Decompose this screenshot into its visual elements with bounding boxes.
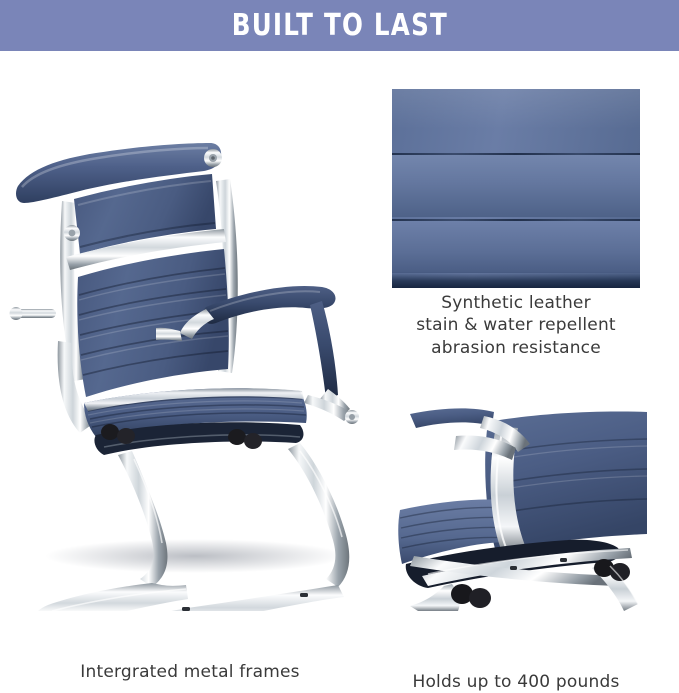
seat-frame-photo — [392, 406, 647, 611]
leather-bottom-shadow — [392, 272, 640, 288]
seat-bolt-right — [345, 410, 359, 424]
caption-synthetic-leather: Synthetic leather stain & water repellen… — [392, 292, 640, 359]
leather-rib-mid — [392, 155, 640, 217]
caption-line-3: abrasion resistance — [392, 337, 640, 359]
caption-weight-capacity: Holds up to 400 pounds — [392, 671, 640, 693]
back-pivot-bolt-left — [64, 225, 80, 241]
caption-line-2: stain & water repellent — [392, 314, 640, 336]
leather-sheen — [392, 89, 640, 129]
page-title: BUILT TO LAST — [231, 11, 447, 41]
content-area: Intergrated metal frames Synthetic leath… — [0, 51, 679, 659]
back-pivot-bolt — [204, 149, 222, 167]
chrome-highlights — [52, 451, 342, 611]
panel-main-chair: Intergrated metal frames — [0, 51, 380, 659]
caption-line-1: Synthetic leather — [392, 292, 640, 314]
header-banner: BUILT TO LAST — [0, 0, 679, 51]
caption-metal-frames: Intergrated metal frames — [10, 661, 370, 683]
chrome-floor-runner-left — [34, 583, 188, 611]
tilt-lever — [10, 307, 57, 320]
full-chair-photo — [0, 51, 380, 611]
leather-rib-low — [392, 221, 640, 273]
armrest-front-post — [310, 301, 338, 399]
leather-texture-photo — [392, 89, 640, 288]
